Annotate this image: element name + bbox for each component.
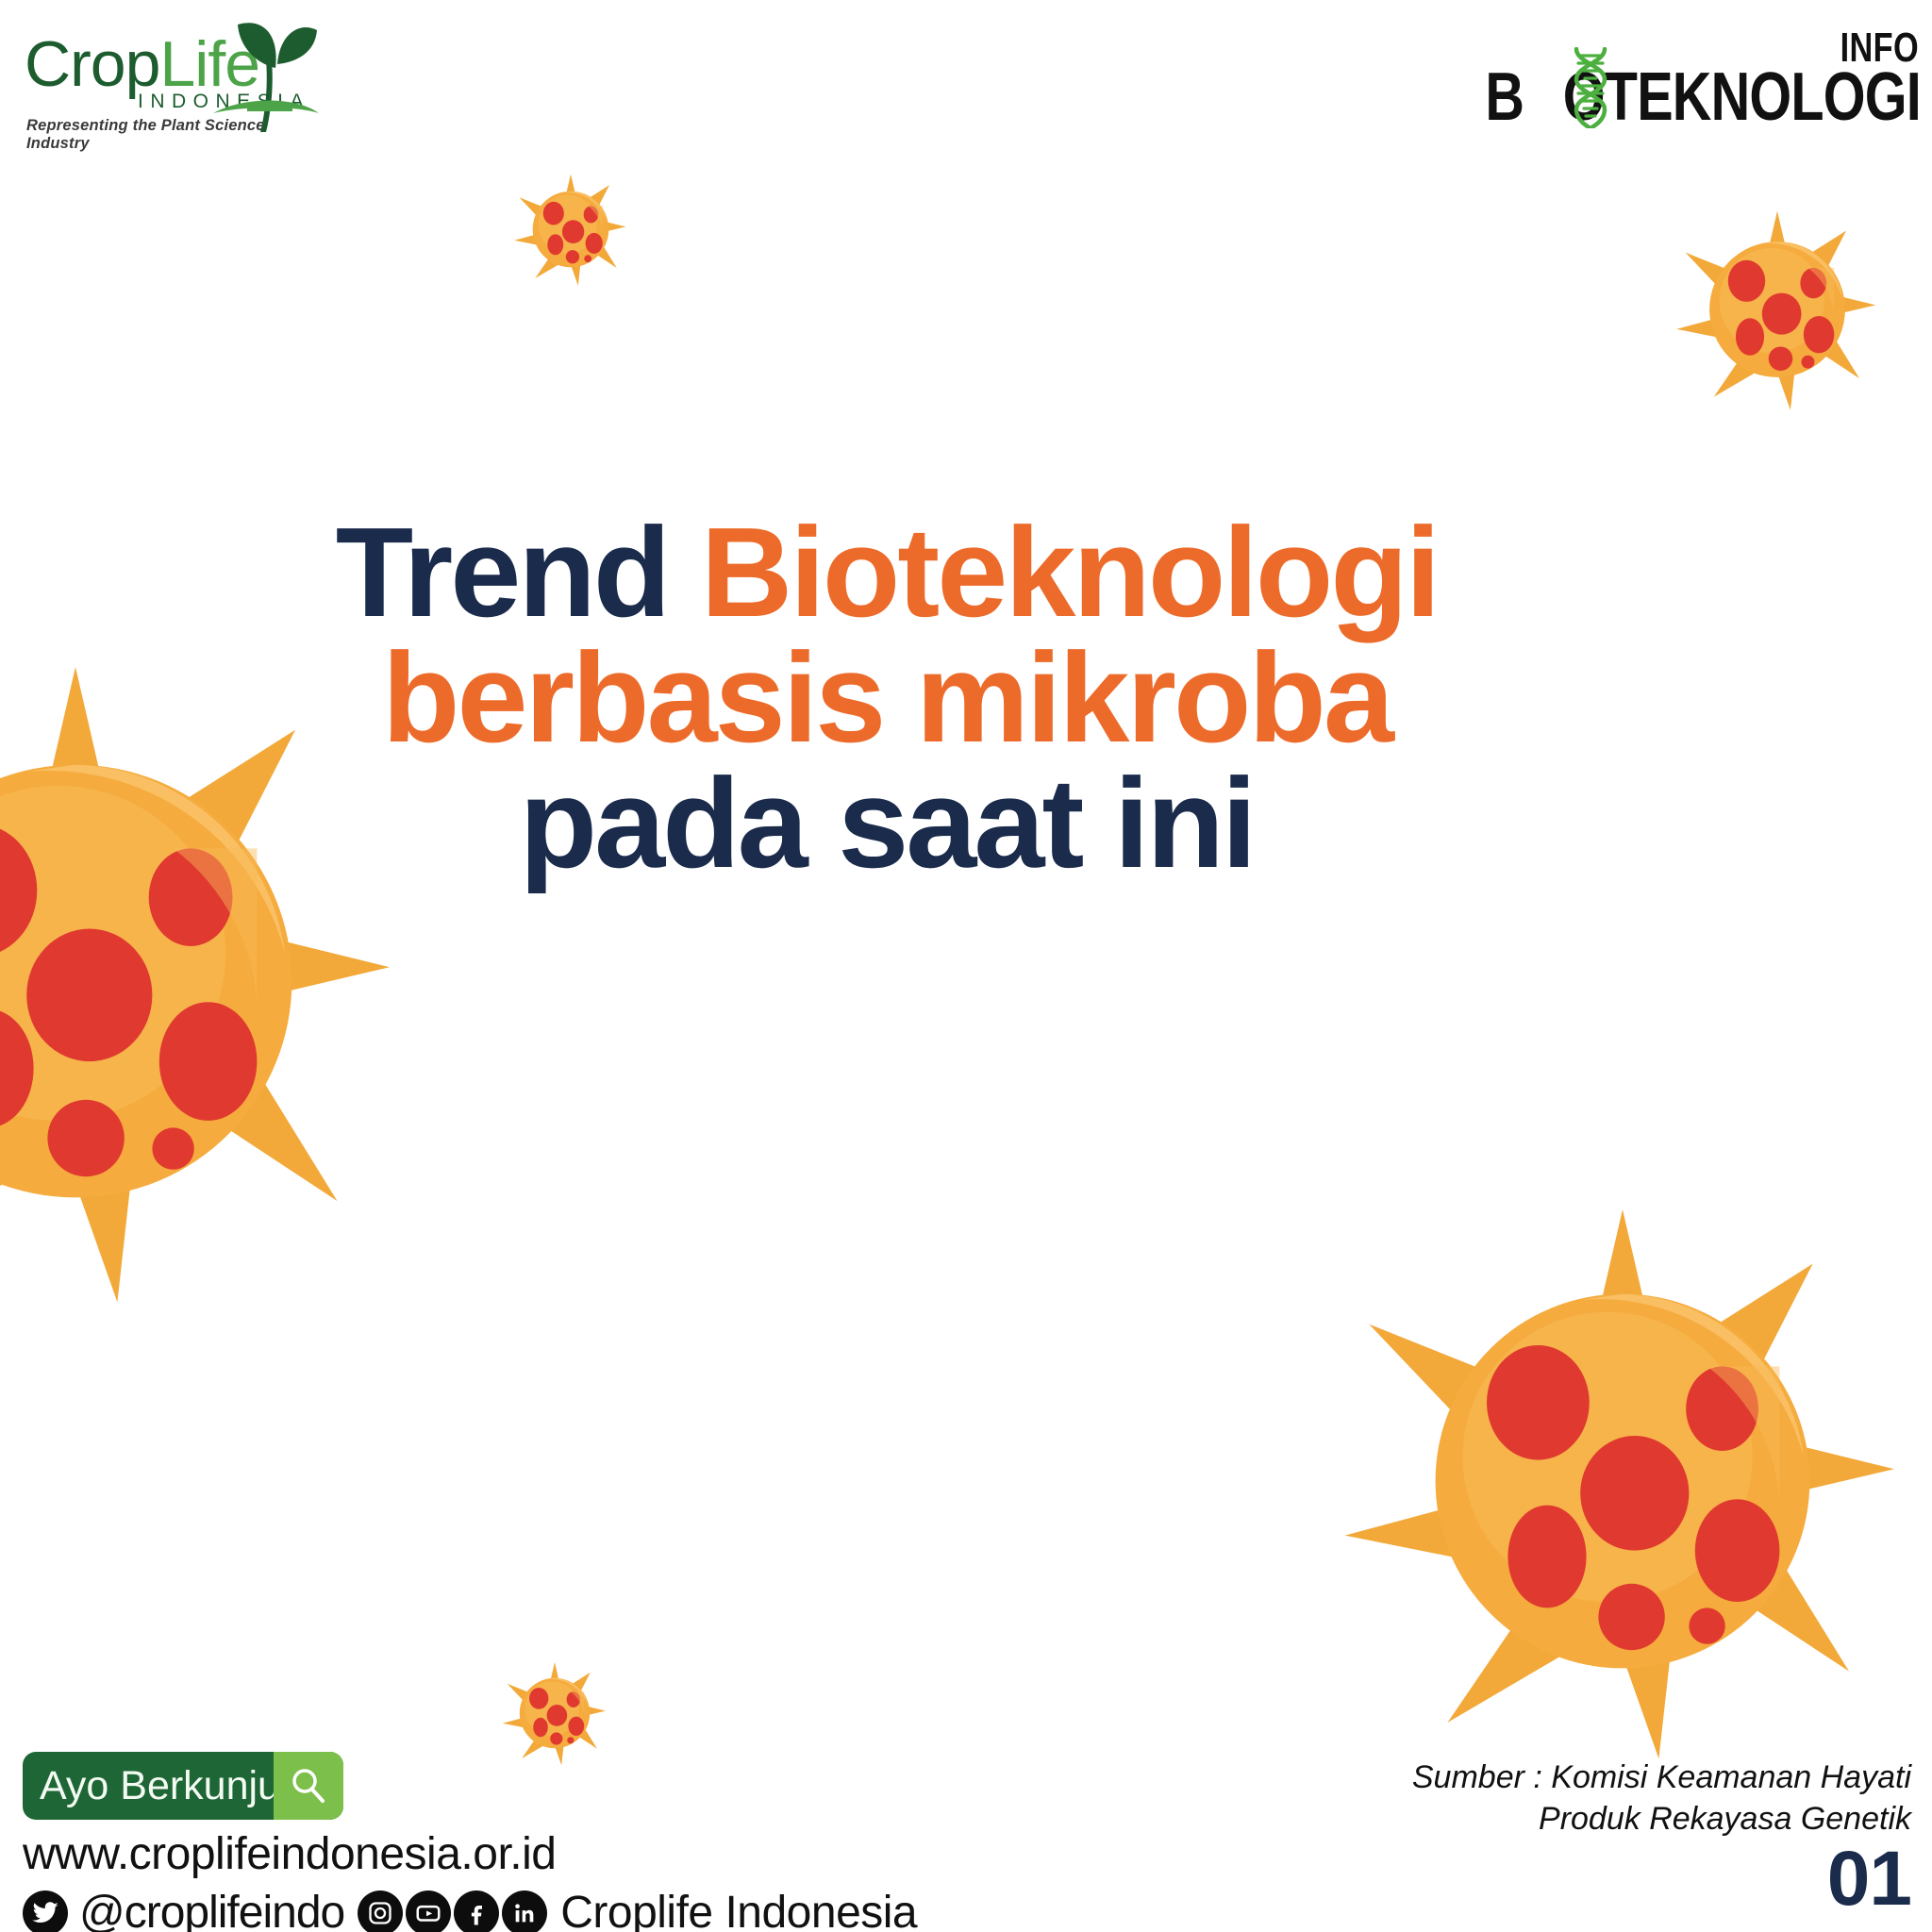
youtube-icon[interactable] xyxy=(406,1890,451,1932)
facebook-icon[interactable] xyxy=(454,1890,499,1932)
social-links-row: @croplifeindo xyxy=(23,1887,917,1932)
dna-helix-icon xyxy=(1569,47,1612,128)
twitter-handle[interactable]: @croplifeindo xyxy=(79,1887,344,1932)
source-line-1: Sumber : Komisi Keamanan Hayati xyxy=(1194,1757,1911,1798)
poster-canvas: CropLife INDONESIA Representing the Plan… xyxy=(0,0,1932,1932)
info-bioteknologi-logo: INFO BOTEKNOLOGI xyxy=(1526,8,1923,121)
magnifier-icon[interactable] xyxy=(274,1752,343,1820)
instagram-icon[interactable] xyxy=(358,1890,403,1932)
page-title: Trend Bioteknologi berbasis mikroba pada… xyxy=(0,509,1774,886)
title-word-trend: Trend xyxy=(336,501,701,643)
page-brand-name[interactable]: Croplife Indonesia xyxy=(560,1887,917,1932)
virus-microbe-icon-small-bottom xyxy=(498,1657,611,1770)
virus-microbe-icon-large-bottomright xyxy=(1321,1179,1924,1783)
croplife-logo: CropLife INDONESIA Representing the Plan… xyxy=(17,13,319,126)
page-number: 01 xyxy=(1827,1835,1911,1924)
title-word-bioteknologi: Bioteknologi xyxy=(701,501,1438,643)
twitter-bird-icon[interactable] xyxy=(23,1890,68,1932)
bio-word-b: B xyxy=(1485,59,1524,135)
source-line-2: Produk Rekayasa Genetik xyxy=(1194,1798,1911,1840)
source-attribution: Sumber : Komisi Keamanan Hayati Produk R… xyxy=(1194,1757,1911,1840)
visit-website-button[interactable]: Ayo Berkunjung xyxy=(23,1752,343,1820)
plant-sprout-icon xyxy=(206,15,319,136)
linkedin-icon[interactable] xyxy=(502,1890,547,1932)
title-line-3: pada saat ini xyxy=(0,760,1774,886)
virus-microbe-icon-medium-topright xyxy=(1668,200,1887,419)
info-bioteknologi-wordmark: BOTEKNOLOGI xyxy=(1485,58,1921,136)
website-url[interactable]: www.croplifeindonesia.or.id xyxy=(23,1828,556,1880)
title-line-2: berbasis mikroba xyxy=(0,635,1774,760)
croplife-word-crop: Crop xyxy=(25,28,159,100)
bio-word-rest: OTEKNOLOGI xyxy=(1563,59,1921,135)
virus-microbe-icon-small-topleft xyxy=(509,168,632,291)
title-line-1: Trend Bioteknologi xyxy=(0,509,1774,635)
